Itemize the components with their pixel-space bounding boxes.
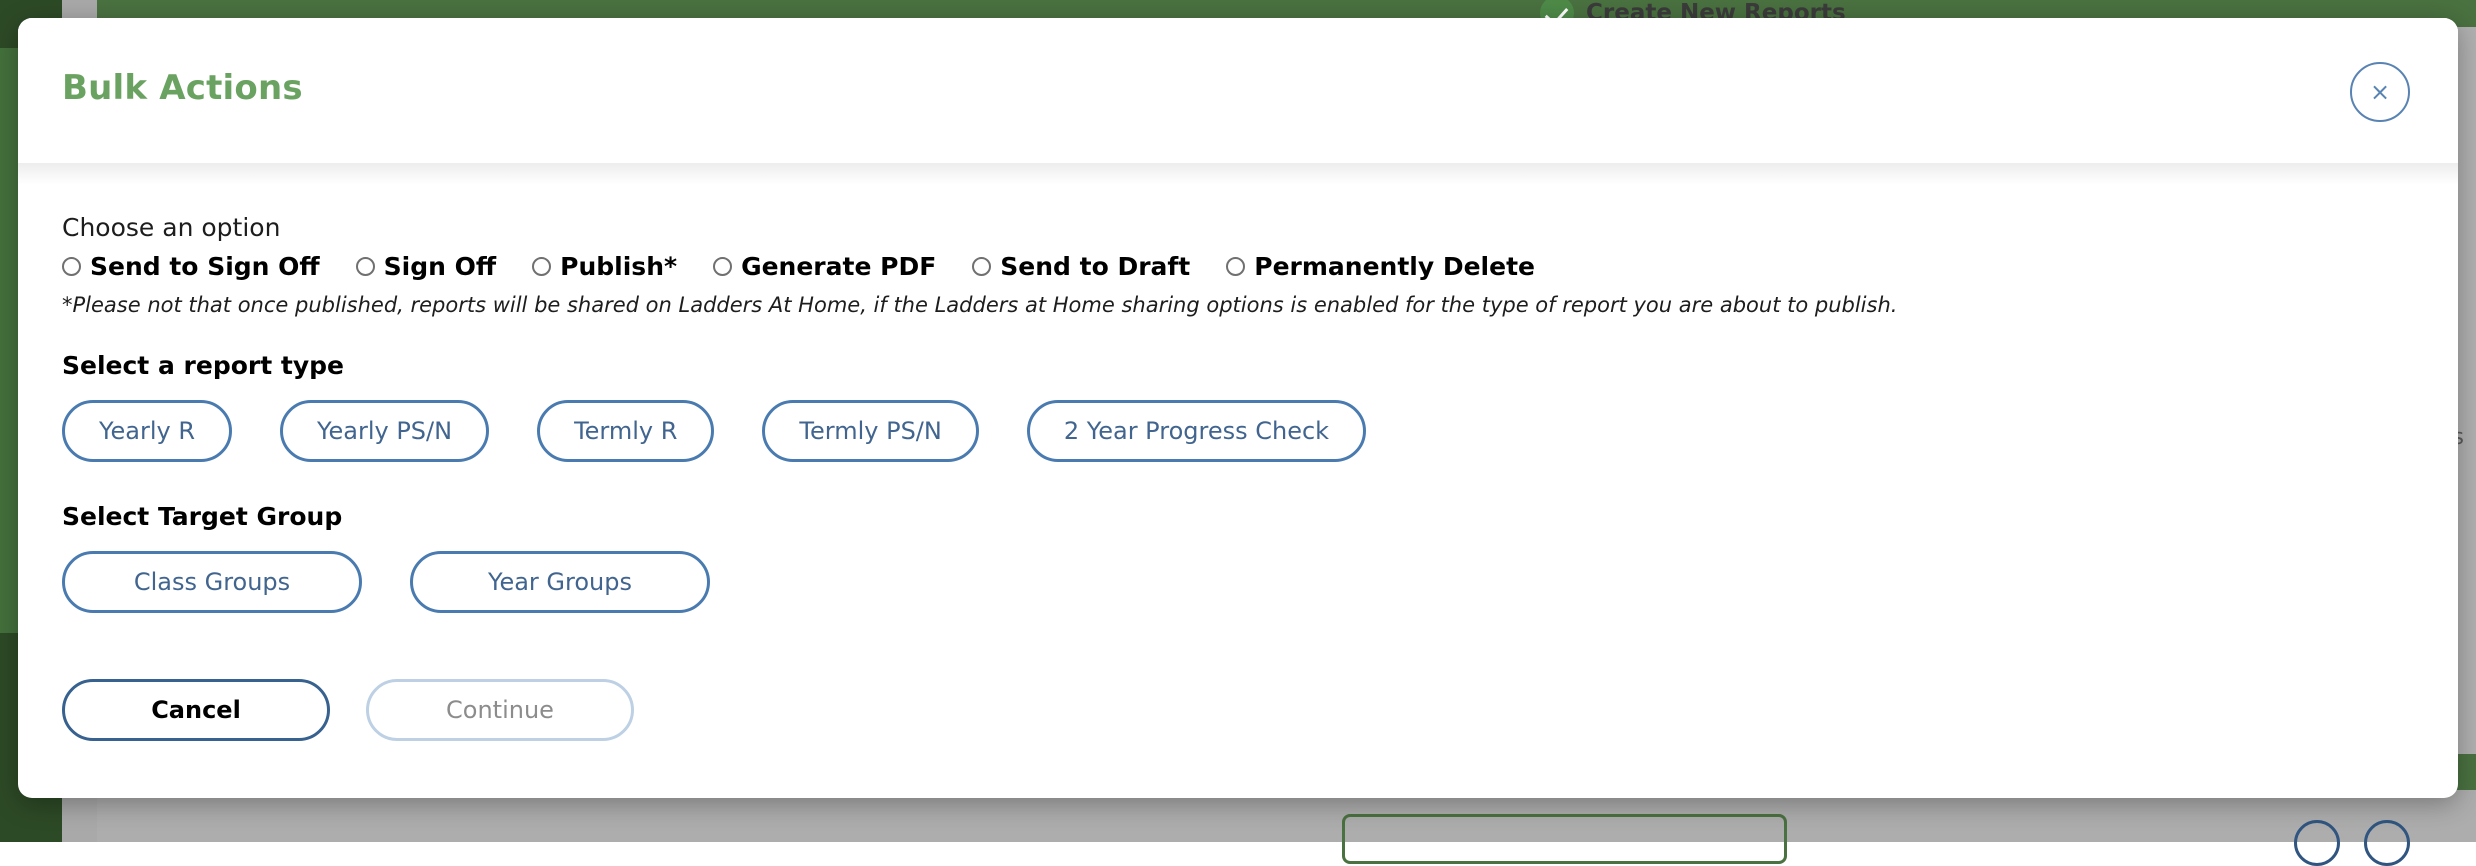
publish-note: *Please not that once published, reports… bbox=[62, 293, 2414, 317]
continue-button[interactable]: Continue bbox=[366, 679, 634, 741]
radio-permanently-delete[interactable]: Permanently Delete bbox=[1226, 252, 1535, 281]
background-green-button[interactable] bbox=[1342, 814, 1787, 864]
radio-label: Generate PDF bbox=[741, 252, 936, 281]
radio-circle-icon bbox=[972, 257, 991, 276]
modal-footer: Cancel Continue bbox=[62, 679, 2414, 741]
target-group-options: Class Groups Year Groups bbox=[62, 551, 2414, 613]
radio-circle-icon bbox=[62, 257, 81, 276]
background-pager-circle-2[interactable] bbox=[2364, 820, 2410, 866]
radio-label: Send to Sign Off bbox=[90, 252, 320, 281]
background-pager-circle-1[interactable] bbox=[2294, 820, 2340, 866]
report-type-yearly-psn[interactable]: Yearly PS/N bbox=[280, 400, 489, 462]
target-group-year-groups[interactable]: Year Groups bbox=[410, 551, 710, 613]
report-type-options: Yearly R Yearly PS/N Termly R Termly PS/… bbox=[62, 400, 2414, 462]
target-group-label: Select Target Group bbox=[62, 502, 2414, 531]
radio-sign-off[interactable]: Sign Off bbox=[356, 252, 496, 281]
radio-label: Send to Draft bbox=[1000, 252, 1190, 281]
target-group-class-groups[interactable]: Class Groups bbox=[62, 551, 362, 613]
radio-label: Permanently Delete bbox=[1254, 252, 1535, 281]
radio-circle-icon bbox=[1226, 257, 1245, 276]
radio-send-to-sign-off[interactable]: Send to Sign Off bbox=[62, 252, 320, 281]
radio-circle-icon bbox=[356, 257, 375, 276]
page-title: Bulk Actions bbox=[62, 68, 303, 108]
modal-body: Choose an option Send to Sign Off Sign O… bbox=[18, 185, 2458, 741]
bulk-action-radio-group: Send to Sign Off Sign Off Publish* Gener… bbox=[62, 252, 2414, 281]
report-type-2-year-progress-check[interactable]: 2 Year Progress Check bbox=[1027, 400, 1366, 462]
report-type-yearly-r[interactable]: Yearly R bbox=[62, 400, 232, 462]
radio-generate-pdf[interactable]: Generate PDF bbox=[713, 252, 936, 281]
report-type-termly-r[interactable]: Termly R bbox=[537, 400, 714, 462]
header-divider bbox=[18, 163, 2458, 185]
cancel-button[interactable]: Cancel bbox=[62, 679, 330, 741]
choose-option-label: Choose an option bbox=[62, 213, 2414, 242]
report-type-label: Select a report type bbox=[62, 351, 2414, 380]
modal-header: Bulk Actions × bbox=[18, 18, 2458, 163]
bulk-actions-modal: Bulk Actions × Choose an option Send to … bbox=[18, 18, 2458, 798]
report-type-termly-psn[interactable]: Termly PS/N bbox=[762, 400, 978, 462]
radio-circle-icon bbox=[532, 257, 551, 276]
radio-publish[interactable]: Publish* bbox=[532, 252, 677, 281]
radio-circle-icon bbox=[713, 257, 732, 276]
radio-label: Publish* bbox=[560, 252, 677, 281]
close-icon[interactable]: × bbox=[2350, 62, 2410, 122]
radio-send-to-draft[interactable]: Send to Draft bbox=[972, 252, 1190, 281]
radio-label: Sign Off bbox=[384, 252, 496, 281]
